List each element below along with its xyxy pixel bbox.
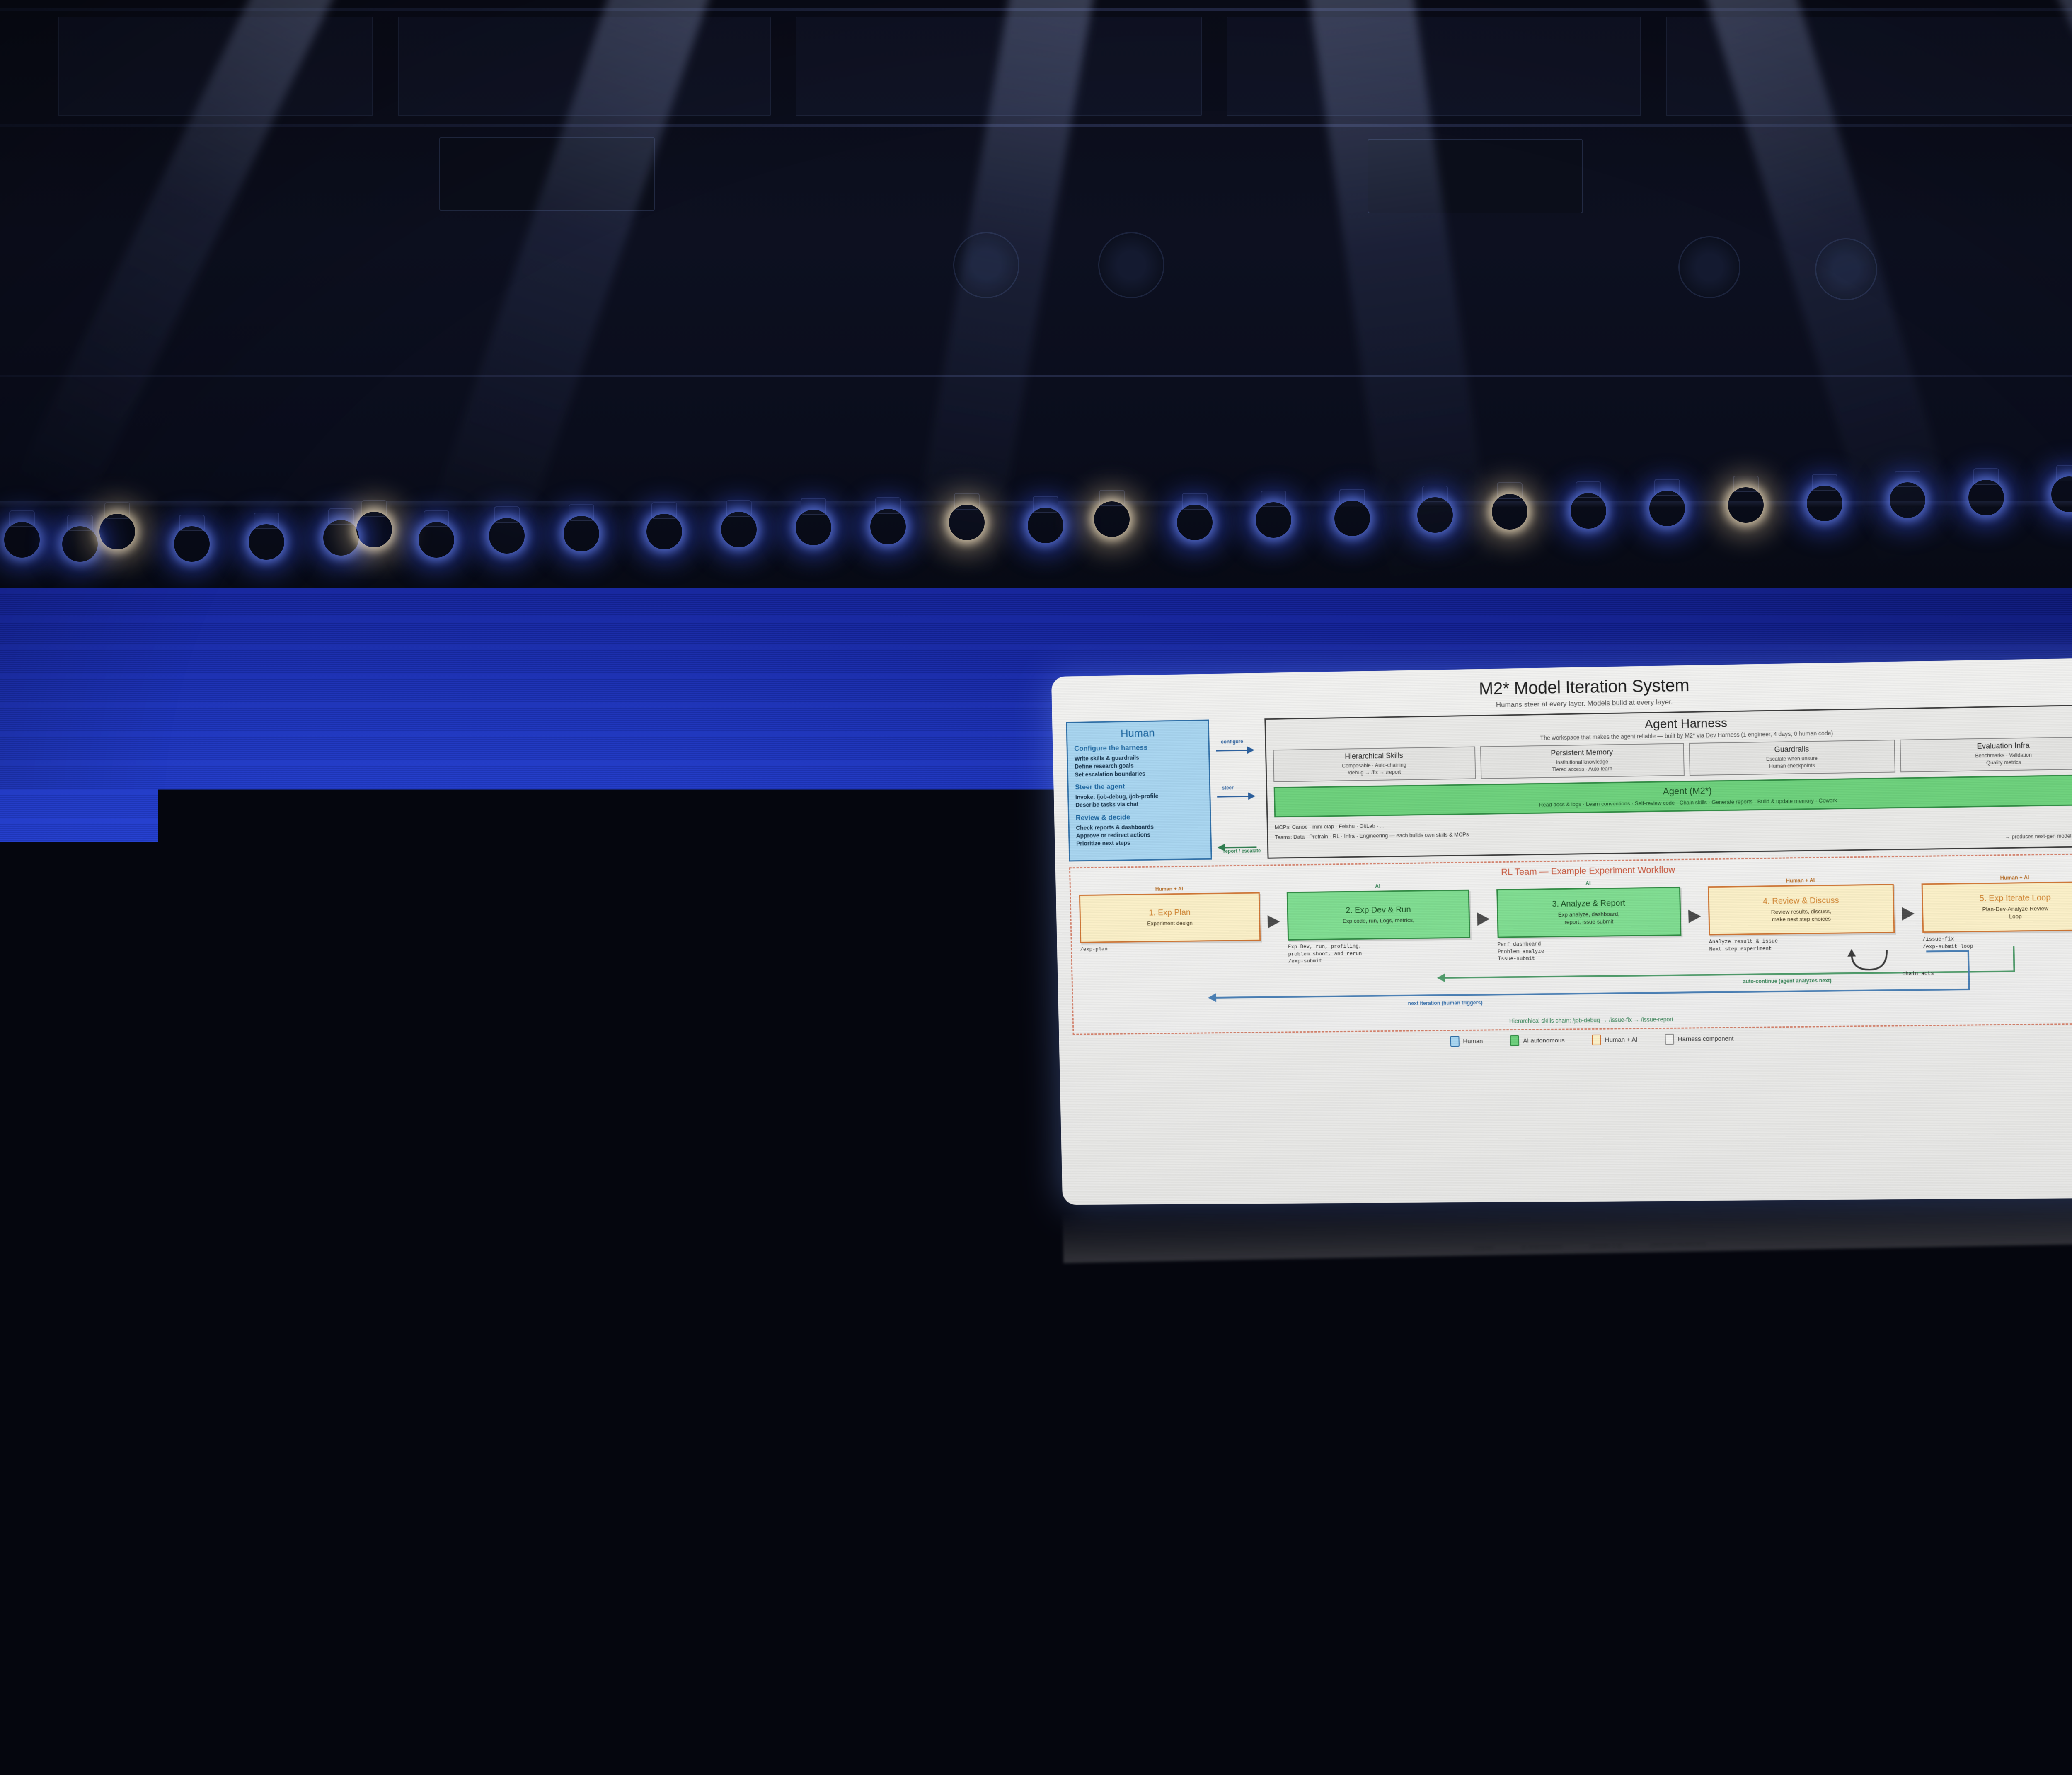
speaker-arm-right	[730, 1124, 749, 1203]
legend-swatch-ai-icon	[1510, 1035, 1519, 1046]
speaker-legs	[688, 1209, 737, 1299]
step-box: 1. Exp Plan Experiment design	[1079, 892, 1261, 943]
slide-middle-row: Human Configure the harness Write skills…	[1066, 704, 2072, 862]
step-detail: Exp code, run, Logs, metrics,	[1291, 916, 1466, 926]
stage-light	[1417, 497, 1453, 533]
step-connector-arrow	[1260, 885, 1288, 929]
report-escalate-arrow-label: report / escalate	[1223, 848, 1261, 854]
harness-component-hierarchical-skills: Hierarchical Skills Composable · Auto-ch…	[1273, 746, 1476, 782]
human-item: Describe tasks via chat	[1075, 799, 1203, 809]
name-placard: 裘薇	[146, 1407, 259, 1459]
stage-light	[1968, 480, 2004, 515]
flow-arrow-column: configure steer report / escalate	[1215, 718, 1262, 859]
step-detail: Experiment design	[1084, 919, 1256, 928]
reflected-legend-label: Human + AI	[1590, 1242, 1623, 1250]
workflow-steps: Human + AI 1. Exp Plan Experiment design…	[1079, 873, 2072, 943]
human-item: Prioritize next steps	[1076, 838, 1204, 848]
water-bottle	[1318, 1483, 1343, 1566]
stage-light	[870, 509, 906, 544]
stage-light	[949, 505, 985, 540]
audience-head	[1750, 1295, 1856, 1418]
presentation-slide: M2* Model Iteration System Humans steer …	[1051, 658, 2072, 1205]
legend-swatch-harness-icon	[1665, 1034, 1674, 1045]
stage-light	[249, 524, 284, 560]
audience-head	[1473, 1637, 1566, 1748]
stage-light	[721, 512, 757, 547]
stage-light	[1890, 482, 1925, 518]
agent-m2-bar: Agent (M2*) Read docs & logs · Learn con…	[1274, 774, 2072, 817]
step-box: 5. Exp Iterate Loop Plan-Dev-Analyze-Rev…	[1921, 881, 2072, 933]
ceiling-vent	[1098, 232, 1164, 298]
water-bottle	[104, 1380, 128, 1458]
human-group-title-steer: Steer the agent	[1075, 781, 1203, 791]
step-detail: Review results, discuss,make next step c…	[1713, 907, 1890, 924]
stage-light	[1492, 494, 1527, 530]
human-panel-heading: Human	[1074, 726, 1202, 741]
step-connector-arrow	[1680, 879, 1709, 923]
harness-component-persistent-memory: Persistent Memory Institutional knowledg…	[1480, 743, 1685, 779]
speaker-head	[697, 1075, 727, 1112]
stage-light	[99, 514, 135, 549]
step-box: 3. Analyze & Report Exp analyze, dashboa…	[1496, 887, 1682, 938]
step-role: Human + AI	[2000, 875, 2029, 881]
stage-light	[323, 520, 359, 556]
component-title: Guardrails	[1692, 743, 1892, 755]
stage-light	[796, 510, 831, 545]
workflow-step-5: Human + AI 5. Exp Iterate Loop Plan-Dev-…	[1921, 873, 2072, 933]
stage-light	[419, 522, 454, 558]
headline-line-2: 开启模型的自我进化	[148, 901, 644, 969]
workflow-step-3: AI 3. Analyze & Report Exp analyze, dash…	[1496, 879, 1682, 938]
human-group-title-review: Review & decide	[1076, 812, 1203, 822]
microphone-flag	[698, 1126, 719, 1138]
stage-light	[646, 514, 682, 549]
configure-arrow-label: configure	[1221, 739, 1243, 745]
component-title: Persistent Memory	[1483, 747, 1680, 759]
legend-swatch-human-ai-icon	[1592, 1035, 1601, 1045]
audience-body	[199, 1599, 514, 1775]
stage-light	[564, 516, 599, 551]
harness-component-evaluation-infra: Evaluation Infra Benchmarks · Validation…	[1900, 736, 2072, 772]
speaker-leg-gap	[707, 1228, 712, 1290]
legend-item-ai-autonomous: AI autonomous	[1510, 1035, 1565, 1046]
stage-light-rig	[0, 468, 2072, 601]
stage-light	[1334, 501, 1370, 536]
ceiling-panel	[796, 17, 1202, 116]
speaker-shoe-left	[685, 1296, 710, 1306]
steer-arrow-label: steer	[1222, 785, 1234, 791]
ceiling-panel	[58, 17, 373, 116]
ceiling-truss	[0, 375, 2072, 377]
workflow-step-1: Human + AI 1. Exp Plan Experiment design	[1079, 885, 1261, 943]
harness-component-guardrails: Guardrails Escalate when unsure Human ch…	[1689, 740, 1895, 776]
rl-workflow-panel: RL Team — Example Experiment Workflow Hu…	[1069, 853, 2072, 1035]
ceiling-speaker	[439, 137, 655, 211]
step-role: AI	[1585, 880, 1591, 886]
configure-arrow: configure	[1216, 745, 1257, 754]
human-panel: Human Configure the harness Write skills…	[1066, 719, 1212, 861]
stage-light	[489, 518, 525, 554]
ceiling-panel	[398, 17, 771, 116]
stage-light	[1649, 491, 1685, 526]
ceiling-speaker	[1368, 139, 1583, 213]
legend-label: AI autonomous	[1523, 1037, 1565, 1044]
speaker-shoe-right	[713, 1296, 738, 1306]
stage-light	[1728, 487, 1764, 523]
legend-item-human: Human	[1450, 1036, 1483, 1047]
step-title: 4. Review & Discuss	[1712, 895, 1890, 907]
auto-continue-label: auto-continue (agent analyzes next)	[1743, 978, 1831, 984]
step-box: 4. Review & Discuss Review results, disc…	[1708, 884, 1895, 935]
audience-body	[1687, 1412, 1935, 1775]
stage-light	[62, 526, 98, 562]
legend-label: Human + AI	[1605, 1036, 1637, 1043]
stage-light	[356, 512, 392, 547]
chain-acts-label: chain acts	[1903, 971, 1934, 977]
workflow-loop-arrows: chain acts auto-continue (agent analyzes…	[1081, 957, 2072, 1021]
report-escalate-arrow: report / escalate	[1218, 842, 1259, 851]
stage-light	[1571, 493, 1606, 529]
step-title: 2. Exp Dev & Run	[1291, 904, 1466, 916]
step-connector-arrow	[1893, 876, 1922, 921]
harness-footnotes: MCPs: Canoe · mini-olap · Feishu · GitLa…	[1274, 810, 2072, 852]
speaker-arm-left	[676, 1124, 695, 1203]
audience-body	[659, 1353, 908, 1775]
headline-line-1: AI 深度参与迭代	[137, 833, 644, 901]
step-role: AI	[1375, 883, 1380, 889]
ceiling-vent	[1678, 236, 1740, 298]
next-iteration-label: next iteration (human triggers)	[1408, 1000, 1482, 1006]
human-group-title-configure: Configure the harness	[1074, 742, 1202, 753]
stage-light	[1028, 508, 1063, 543]
step-role: Human + AI	[1155, 886, 1183, 892]
ceiling-truss	[0, 124, 2072, 127]
step-title: 1. Exp Plan	[1083, 907, 1256, 919]
reflected-legend-label: AI autonomous	[1521, 1243, 1563, 1251]
component-title: Hierarchical Skills	[1276, 750, 1472, 762]
ceiling-vent	[1815, 238, 1877, 300]
reflected-legend-label: Harness component	[1650, 1241, 1706, 1249]
step-detail: Exp analyze, dashboard,report, issue sub…	[1501, 909, 1677, 927]
component-title: Evaluation Infra	[1903, 740, 2072, 752]
stage-light	[174, 526, 210, 562]
ceiling-truss	[0, 8, 2072, 11]
ceiling-panel	[1666, 17, 2072, 116]
step-connector-arrow	[1469, 882, 1497, 926]
audience-head	[729, 1241, 831, 1360]
stage-light	[1256, 502, 1291, 538]
audience-body	[1401, 1744, 1658, 1775]
stage-headline: AI 深度参与迭代 开启模型的自我进化	[137, 833, 644, 969]
placard-name: 裘薇	[182, 1419, 224, 1447]
name-placard: 邓永昌	[136, 1503, 274, 1567]
legend-item-harness-component: Harness component	[1665, 1033, 1733, 1045]
legend-label: Harness component	[1678, 1035, 1734, 1042]
step-role: Human + AI	[1786, 878, 1815, 884]
legend-label: Human	[1463, 1037, 1483, 1045]
placard-name: 邓永昌	[166, 1518, 244, 1553]
agent-harness-panel: Agent Harness The workspace that makes t…	[1264, 704, 2072, 859]
reflected-legend-label: Human	[1474, 1245, 1494, 1252]
human-item: Set escalation boundaries	[1075, 769, 1202, 779]
stage-light	[1094, 501, 1130, 537]
step-title: 5. Exp Iterate Loop	[1926, 892, 2072, 904]
stage-light	[1177, 505, 1213, 540]
step-title: 3. Analyze & Report	[1501, 898, 1677, 909]
stage-light	[4, 522, 40, 558]
audience-head	[375, 1213, 489, 1342]
audience-head	[1524, 1270, 1623, 1386]
stage-light	[1807, 486, 1842, 521]
workflow-step-2: AI 2. Exp Dev & Run Exp code, run, Logs,…	[1287, 882, 1470, 941]
step-box: 2. Exp Dev & Run Exp code, run, Logs, me…	[1287, 890, 1470, 941]
ceiling-vent	[953, 232, 1019, 298]
steer-arrow: steer	[1217, 791, 1258, 800]
legend-swatch-human-icon	[1450, 1036, 1459, 1047]
legend-item-human-ai: Human + AI	[1592, 1034, 1637, 1045]
ceiling-panel	[1227, 17, 1641, 116]
workflow-step-4: Human + AI 4. Review & Discuss Review re…	[1708, 876, 1895, 935]
step-detail: Plan-Dev-Analyze-ReviewLoop	[1926, 904, 2072, 921]
